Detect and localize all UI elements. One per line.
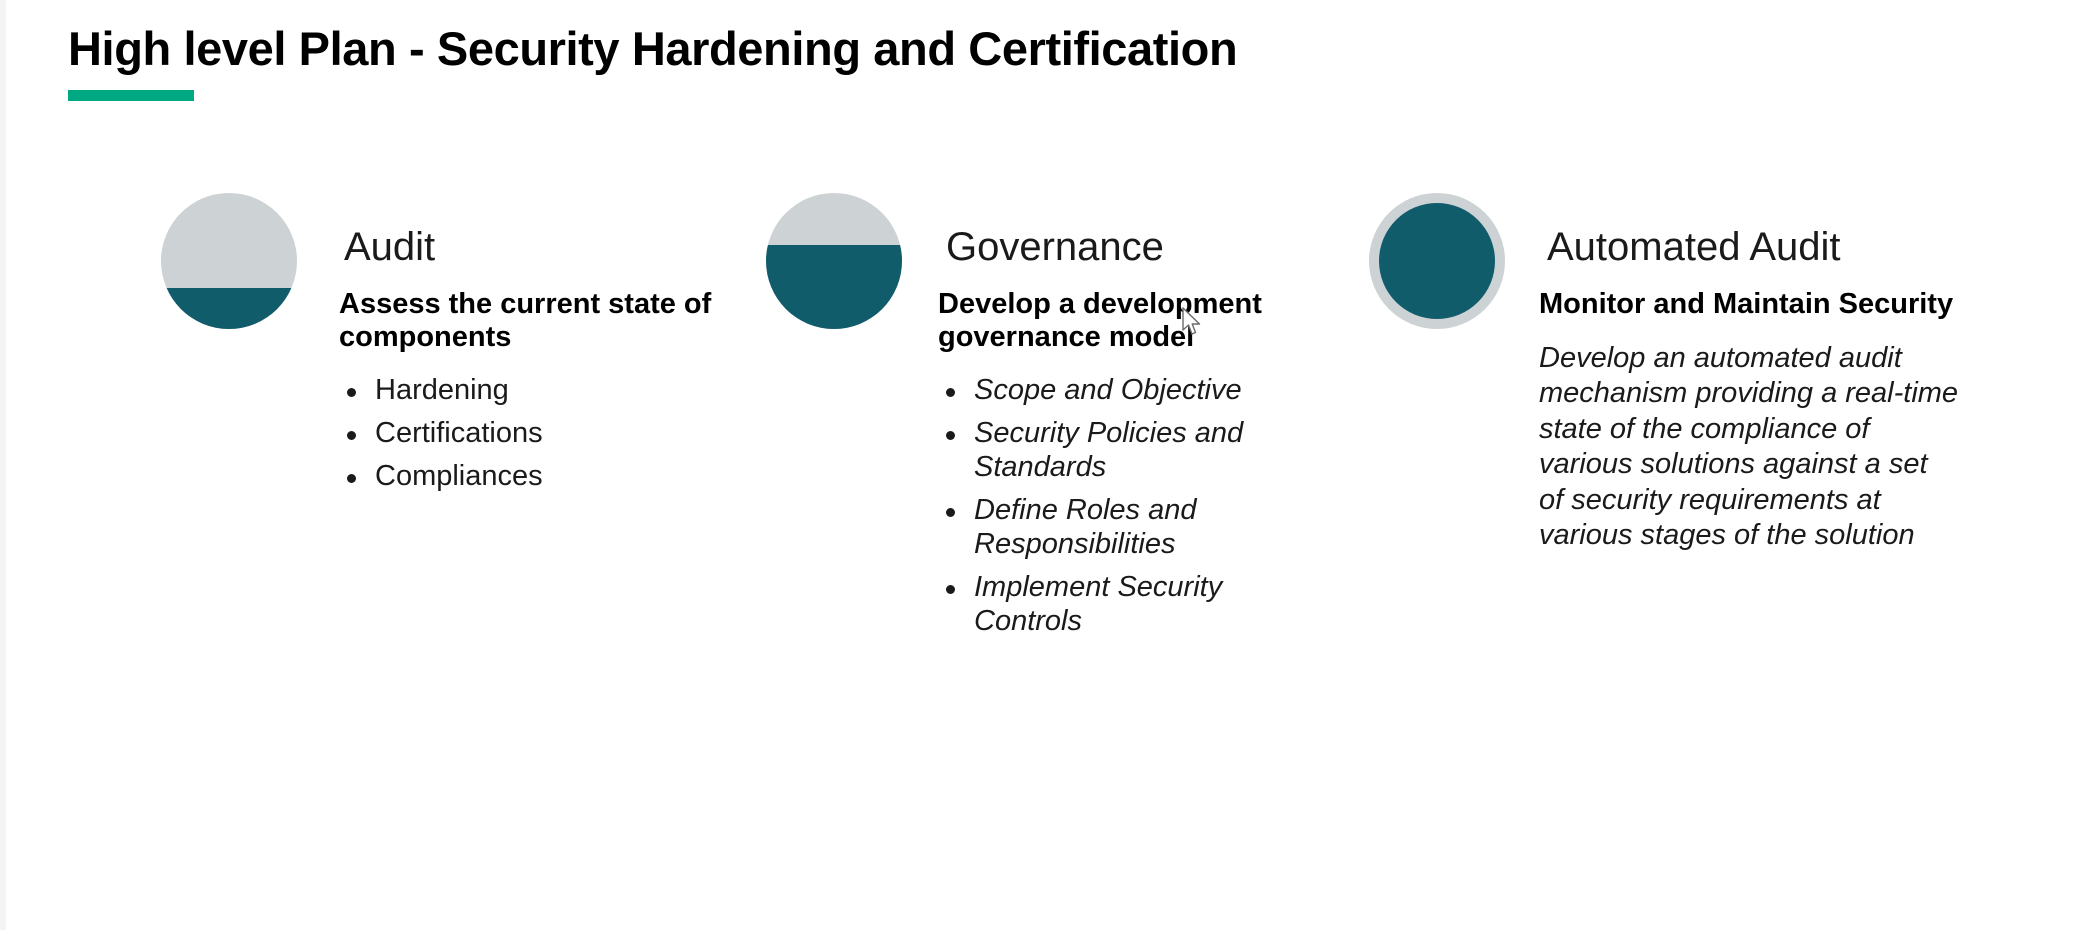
column-subhead: Assess the current state of components: [339, 288, 759, 354]
column-body: Assess the current state of components H…: [339, 288, 759, 503]
column-audit: Audit Assess the current state of compon…: [161, 193, 761, 339]
column-title: Governance: [946, 225, 1164, 269]
bullet-list: Hardening Certifications Compliances: [339, 374, 759, 494]
gauge-full-icon: [1369, 193, 1505, 329]
title-block: High level Plan - Security Hardening and…: [68, 22, 1568, 101]
column-governance: Governance Develop a development governa…: [766, 193, 1326, 339]
column-title: Automated Audit: [1547, 225, 1841, 269]
list-item: Implement Security Controls: [938, 571, 1338, 639]
bullet-list: Scope and Objective Security Policies an…: [938, 374, 1338, 638]
gauge-fill: [766, 245, 902, 329]
gauge-two-thirds-icon: [766, 193, 902, 329]
slide-canvas: High level Plan - Security Hardening and…: [0, 0, 2082, 930]
title-accent-bar: [68, 90, 194, 101]
list-item: Scope and Objective: [938, 374, 1338, 408]
column-body: Develop a development governance model S…: [938, 288, 1338, 648]
gauge-fill: [1379, 203, 1495, 319]
column-subhead: Develop a development governance model: [938, 288, 1338, 354]
column-body: Monitor and Maintain Security Develop an…: [1539, 288, 1959, 553]
list-item: Define Roles and Responsibilities: [938, 494, 1338, 562]
column-automated-audit: Automated Audit Monitor and Maintain Sec…: [1369, 193, 1989, 339]
list-item: Compliances: [339, 460, 759, 494]
column-paragraph: Develop an automated audit mechanism pro…: [1539, 341, 1959, 553]
page-title: High level Plan - Security Hardening and…: [68, 22, 1568, 76]
column-title: Audit: [344, 225, 435, 269]
gauge-one-third-icon: [161, 193, 297, 329]
gauge-fill: [161, 288, 297, 329]
list-item: Hardening: [339, 374, 759, 408]
list-item: Security Policies and Standards: [938, 417, 1338, 485]
column-subhead: Monitor and Maintain Security: [1539, 288, 1959, 321]
list-item: Certifications: [339, 417, 759, 451]
